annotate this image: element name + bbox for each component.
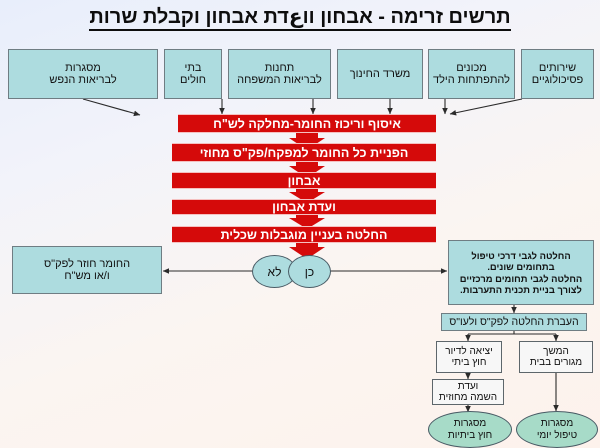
treatment-decision-line2: בתחומים שונים. xyxy=(460,261,582,272)
box-district-placement-committee[interactable]: ועדת השמה מחוזית xyxy=(432,379,504,405)
source-label-line2: להתפתחות הילד xyxy=(433,74,510,87)
process-bar-diagnosis[interactable]: אבחון xyxy=(172,172,436,189)
source-box-mental-health-frameworks[interactable]: מסגרות לבריאות הנפש xyxy=(8,49,158,99)
stay-home-line1: המשך xyxy=(530,346,582,358)
no-branch-line1: החומר חוזר לפק"ס xyxy=(44,258,130,271)
transfer-label: העברת החלטה לפק"ס ולעו"ס xyxy=(449,316,578,328)
box-out-of-home-housing[interactable]: יציאה לדיור חוץ ביתי xyxy=(436,341,502,373)
source-label-line1: בתי xyxy=(180,62,206,75)
outcome-out-of-home-line1: מסגרות xyxy=(448,418,492,430)
source-label-line1: מסגרות xyxy=(49,62,116,75)
treatment-decision-line4: לצורך בניית תכנית התערבות. xyxy=(460,284,582,295)
source-box-child-development-institutes[interactable]: מכונים להתפתחות הילד xyxy=(428,49,515,99)
oval-daily-care-frameworks[interactable]: מסגרות טיפול יומי xyxy=(516,411,598,448)
source-label-line1: תחנות xyxy=(237,62,322,75)
flowchart-canvas: תרשים זרימה - אבחון ווعדת אבחון וקבלת שר… xyxy=(0,0,600,448)
oval-out-of-home-frameworks[interactable]: מסגרות חוץ ביתיות xyxy=(428,411,512,448)
process-bar-refer-material[interactable]: הפניית כל החומר למפקח/פק"ס מחוזי xyxy=(172,143,436,162)
source-label-line1: מכונים xyxy=(433,62,510,75)
process-label: אבחון xyxy=(288,174,321,188)
outcome-daycare-line2: טיפול יומי xyxy=(537,430,577,442)
source-label-line2: פסיכולוגיים xyxy=(532,74,583,87)
source-box-hospitals[interactable]: בתי חולים xyxy=(164,49,222,99)
process-label: הפניית כל החומר למפקח/פק"ס מחוזי xyxy=(200,146,409,160)
placement-committee-line1: ועדת xyxy=(439,381,497,393)
out-of-home-line1: יציאה לדיור xyxy=(445,346,492,358)
stay-home-line2: מגורים בבית xyxy=(530,357,582,369)
box-transfer-decision-to-supervisor-and-social-worker[interactable]: העברת החלטה לפק"ס ולעו"ס xyxy=(441,313,587,331)
box-continue-living-at-home[interactable]: המשך מגורים בבית xyxy=(519,341,593,373)
source-box-psychological-services[interactable]: שירותים פסיכולוגיים xyxy=(521,49,594,99)
outcome-out-of-home-line2: חוץ ביתיות xyxy=(448,430,492,442)
process-bar-diagnosis-committee[interactable]: ועדת אבחון xyxy=(172,199,436,215)
process-label: איסוף וריכוז החומר-מחלקה לש"ח xyxy=(213,117,401,131)
source-label-line2: חולים xyxy=(180,74,206,87)
placement-committee-line2: השמה מחוזית xyxy=(439,392,497,404)
source-box-family-health-clinics[interactable]: תחנות לבריאות המשפחה xyxy=(228,49,331,99)
source-label-line1: משרד החינוך xyxy=(350,68,411,81)
decision-label-no: לא xyxy=(268,266,282,278)
decision-label-yes: כן xyxy=(305,266,314,278)
box-material-returned-to-supervisor[interactable]: החומר חוזר לפק"ס ו/או מש"ח xyxy=(12,246,162,294)
treatment-decision-line3: החלטה לגבי תחומים מרכזיים xyxy=(460,273,582,284)
source-label-line1: שירותים xyxy=(532,62,583,75)
process-label: ועדת אבחון xyxy=(272,200,336,214)
source-label-line2: לבריאות המשפחה xyxy=(237,74,322,87)
process-bar-intellectual-disability-decision[interactable]: החלטה בעניין מוגבלות שכלית xyxy=(172,226,436,243)
outcome-daycare-line1: מסגרות xyxy=(537,418,577,430)
treatment-decision-line1: החלטה לגבי דרכי טיפול xyxy=(460,250,582,261)
source-label-line2: לבריאות הנפש xyxy=(49,74,116,87)
out-of-home-line2: חוץ ביתי xyxy=(445,357,492,369)
box-treatment-decision[interactable]: החלטה לגבי דרכי טיפול בתחומים שונים. החל… xyxy=(448,240,594,305)
no-branch-line2: ו/או מש"ח xyxy=(44,270,130,283)
source-box-ministry-of-education[interactable]: משרד החינוך xyxy=(337,49,423,99)
decision-ellipse-yes[interactable]: כן xyxy=(288,255,331,288)
process-label: החלטה בעניין מוגבלות שכלית xyxy=(221,228,388,242)
process-bar-collect-material[interactable]: איסוף וריכוז החומר-מחלקה לש"ח xyxy=(178,114,436,133)
page-title: תרשים זרימה - אבחון ווعדת אבחון וקבלת שר… xyxy=(0,4,600,29)
